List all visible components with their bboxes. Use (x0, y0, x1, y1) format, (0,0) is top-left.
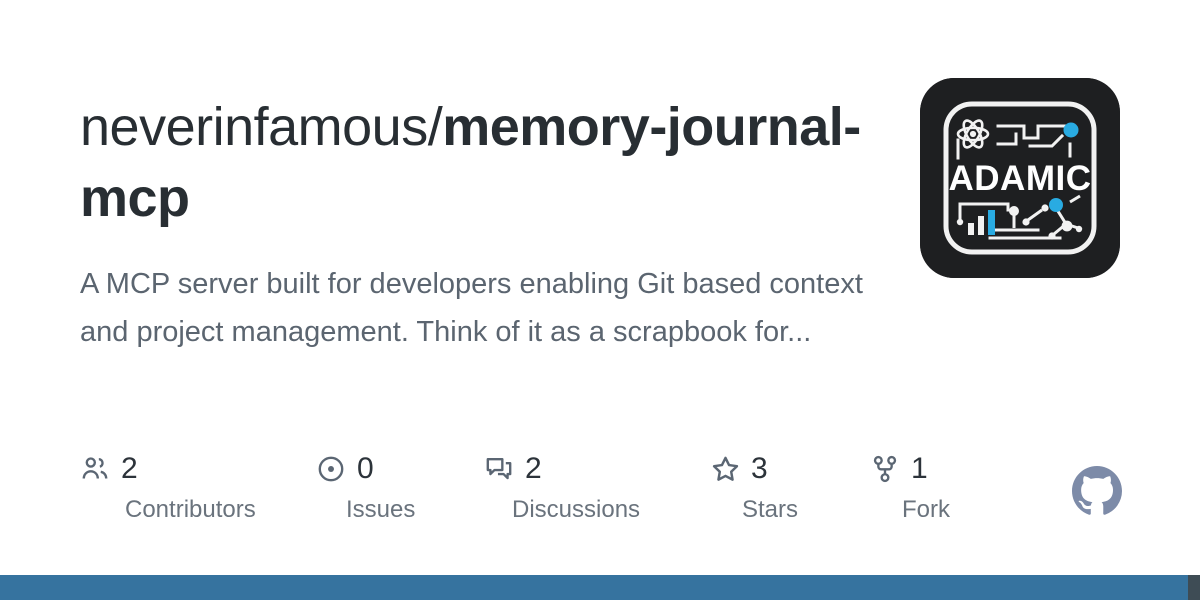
avatar: ADAMIC (920, 78, 1120, 278)
stat-value: 2 (525, 454, 542, 484)
repo-stats: 2 Contributors 0 Issues (80, 452, 1040, 542)
stat-value: 1 (911, 454, 928, 484)
stat-label: Stars (742, 497, 798, 523)
stat-label: Discussions (512, 497, 640, 523)
stat-label: Issues (346, 497, 415, 523)
stat-value: 0 (357, 454, 374, 484)
stat-label: Fork (902, 497, 950, 523)
stat-value: 2 (121, 454, 138, 484)
page-title: neverinfamous/memory-journal-mcp (80, 92, 870, 234)
svg-text:ADAMIC: ADAMIC (949, 159, 1092, 198)
repo-owner: neverinfamous (80, 97, 428, 157)
comment-discussion-icon (484, 454, 514, 484)
stat-forks: 1 Fork (870, 452, 950, 523)
star-icon (710, 454, 740, 484)
bottom-accent-band (0, 575, 1188, 600)
repo-forked-icon (870, 454, 900, 484)
stat-stars: 3 Stars (710, 452, 798, 523)
stat-label: Contributors (125, 497, 256, 523)
stat-contributors: 2 Contributors (80, 452, 256, 523)
stat-discussions: 2 Discussions (484, 452, 640, 523)
stat-value: 3 (751, 454, 768, 484)
issue-opened-icon (316, 454, 346, 484)
repo-description: A MCP server built for developers enabli… (80, 260, 870, 356)
stat-issues: 0 Issues (316, 452, 415, 523)
owner-repo-separator: / (428, 97, 443, 157)
bottom-accent-band-end (1188, 575, 1200, 600)
github-octocat-icon (1072, 466, 1122, 516)
repository-social-preview-card: neverinfamous/memory-journal-mcp A MCP s… (0, 0, 1200, 600)
people-icon (80, 454, 110, 484)
